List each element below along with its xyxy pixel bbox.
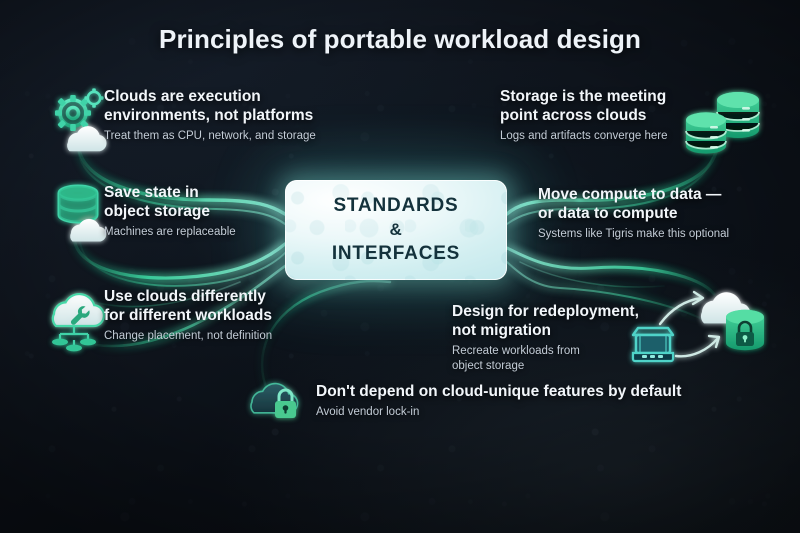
node-design-for-redeployment: Design for redeployment, not migration R…: [452, 303, 652, 373]
server-arrows-cloud-lockdb-icon: [633, 292, 764, 361]
node-heading-line-2: object storage: [104, 203, 294, 222]
cloud-lock-icon: [251, 384, 298, 418]
node-subtext: Avoid vendor lock-in: [316, 405, 716, 420]
node-subtext: Treat them as CPU, network, and storage: [104, 129, 344, 144]
node-subtext: Systems like Tigris make this optional: [538, 227, 768, 242]
node-subtext: Change placement, not definition: [104, 329, 309, 344]
node-heading-line-1: Save state in: [104, 184, 294, 203]
node-heading-line-1: Storage is the meeting: [500, 88, 700, 107]
database-cloud-icon: [59, 186, 106, 242]
node-heading-line-1: Clouds are execution: [104, 88, 344, 107]
node-heading-line-2: or data to compute: [538, 205, 768, 224]
node-heading-line-2: not migration: [452, 322, 652, 341]
hub-line-ampersand: &: [389, 219, 402, 242]
node-heading-line-1: Move compute to data —: [538, 186, 768, 205]
node-heading-line-2: point across clouds: [500, 107, 700, 126]
central-hub-standards-interfaces: STANDARDS & INTERFACES: [285, 180, 507, 280]
node-heading-line-1: Use clouds differently: [104, 288, 309, 307]
page-title: Principles of portable workload design: [0, 24, 800, 55]
locked-database-icon: [726, 310, 764, 350]
cloud-wrench-network-icon: [52, 294, 104, 351]
node-heading-line-2: environments, not platforms: [104, 107, 344, 126]
node-save-state-in-object-storage: Save state in object storage Machines ar…: [104, 184, 294, 240]
arrow-to-cloud-icon: [660, 292, 703, 324]
hub-line-interfaces: INTERFACES: [332, 241, 460, 266]
node-subtext: Logs and artifacts converge here: [500, 129, 700, 144]
node-subtext-line-2: object storage: [452, 359, 652, 374]
node-move-compute-to-data: Move compute to data — or data to comput…: [538, 186, 768, 242]
gear-cloud-icon: [55, 88, 107, 151]
node-use-clouds-differently: Use clouds differently for different wor…: [104, 288, 309, 344]
node-storage-is-the-meeting-point: Storage is the meeting point across clou…: [500, 88, 700, 144]
node-heading-line-1: Design for redeployment,: [452, 303, 652, 322]
arrow-to-locked-db-icon: [676, 336, 719, 356]
node-heading-line-2: for different workloads: [104, 307, 309, 326]
hub-line-standards: STANDARDS: [333, 193, 458, 218]
infographic-canvas: Principles of portable workload design S…: [0, 0, 800, 533]
node-subtext: Machines are replaceable: [104, 225, 294, 240]
node-subtext-line-1: Recreate workloads from: [452, 344, 652, 359]
node-dont-depend-on-cloud-unique-features: Don't depend on cloud-unique features by…: [316, 383, 716, 420]
cloud-icon: [701, 292, 750, 323]
node-heading-line-1: Don't depend on cloud-unique features by…: [316, 383, 716, 402]
node-clouds-are-execution-environments: Clouds are execution environments, not p…: [104, 88, 344, 144]
